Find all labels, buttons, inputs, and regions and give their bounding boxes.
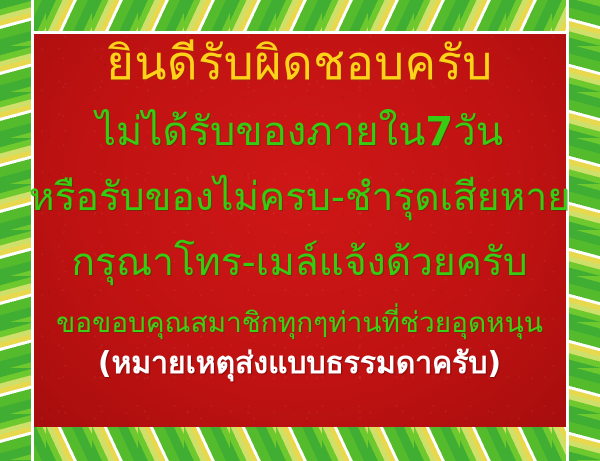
thanks-text: ขอขอบคุณสมาชิกทุกๆท่านที่ช่วยอุดหนุน xyxy=(22,309,577,337)
days-number: 7 xyxy=(425,109,453,155)
promo-poster: ยินดีรับผิดชอบครับ ไม่ได้รับของภายใน7วัน… xyxy=(0,0,600,461)
headline-text: ยินดีรับผิดชอบครับ xyxy=(22,40,577,87)
red-message-panel: ยินดีรับผิดชอบครับ ไม่ได้รับของภายใน7วัน… xyxy=(21,23,578,438)
condition-not-received-prefix: ไม่ได้รับของภายใน xyxy=(96,109,426,155)
condition-incomplete-damaged-text: หรือรับของไม่ครบ-ชำรุดเสียหาย xyxy=(22,178,577,217)
contact-instruction-text: กรุณาโทร-เมล์แจ้งด้วยครับ xyxy=(22,243,577,282)
condition-not-received-line: ไม่ได้รับของภายใน7วัน xyxy=(22,112,577,152)
condition-not-received-suffix: วัน xyxy=(453,109,503,155)
shipping-note-text: (หมายเหตุส่งแบบธรรมดาครับ) xyxy=(22,349,577,379)
